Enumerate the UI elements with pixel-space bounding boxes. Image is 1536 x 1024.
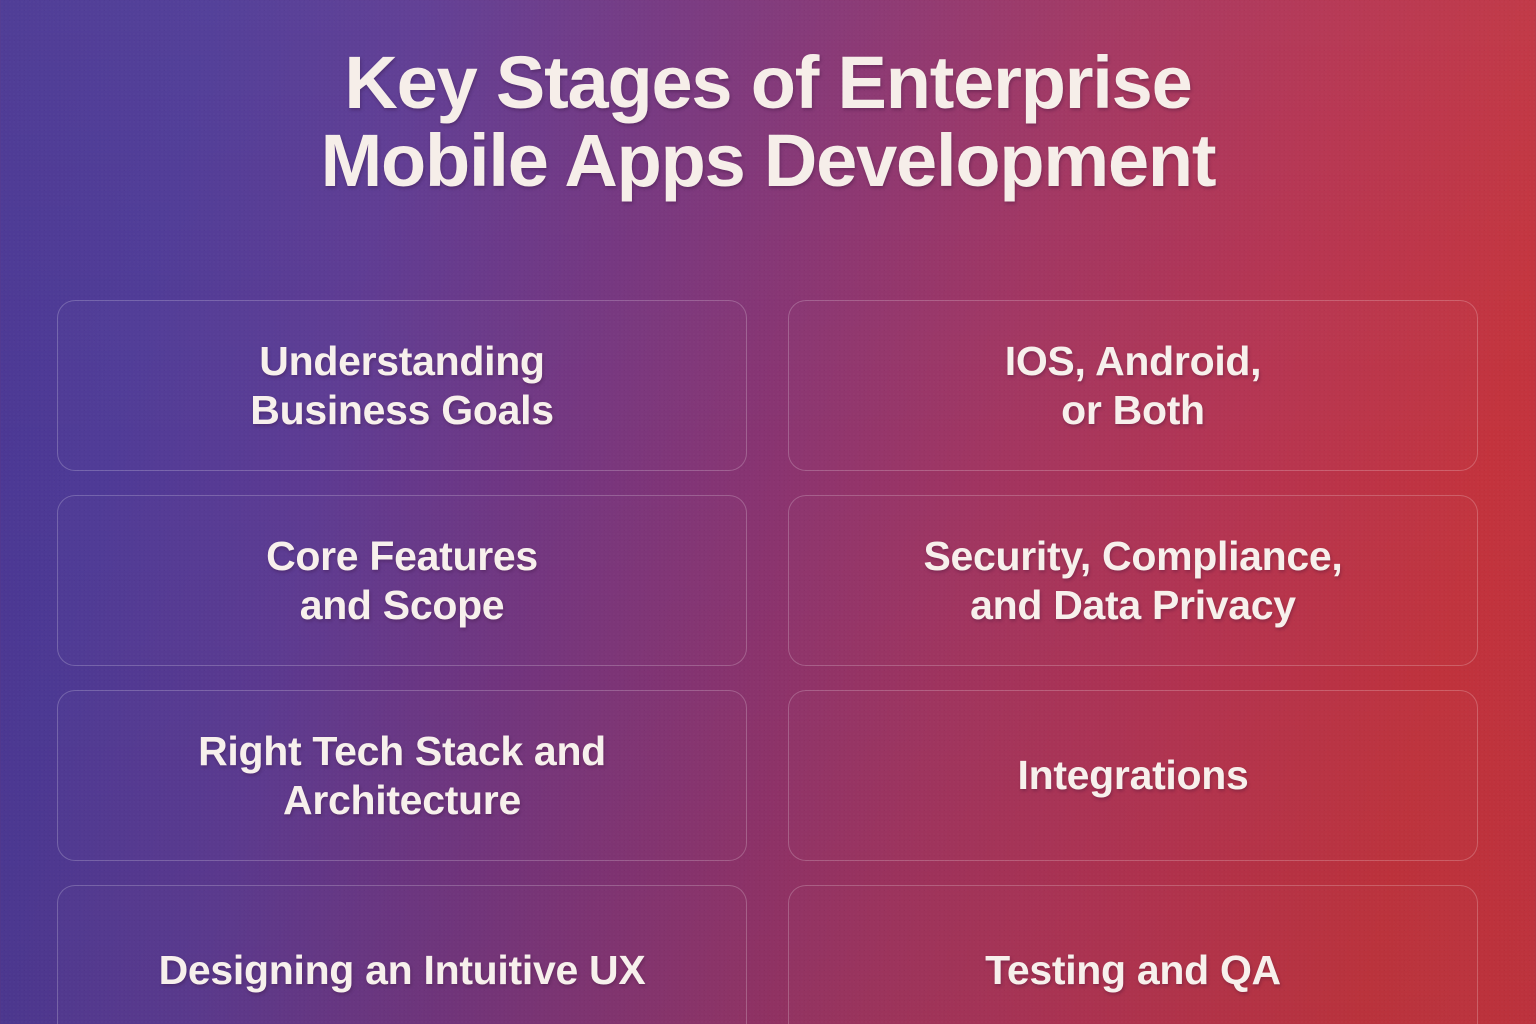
- stage-card-line-1: Core Features: [266, 532, 538, 580]
- stage-card-label: Testing and QA: [963, 946, 1303, 994]
- stage-card-label: Integrations: [995, 751, 1270, 799]
- stage-card-right-tech-stack-and-architecture[interactable]: Right Tech Stack and Architecture: [57, 690, 747, 861]
- stage-card-label: Designing an Intuitive UX: [137, 946, 668, 994]
- stage-card-line-2: Business Goals: [250, 386, 553, 434]
- stage-card-line-2: Architecture: [198, 776, 606, 824]
- stage-card-line-1: Right Tech Stack and: [198, 727, 606, 775]
- stage-card-line-2: and Scope: [266, 581, 538, 629]
- stage-card-label: Core Features and Scope: [244, 532, 560, 629]
- stage-card-line-2: or Both: [1005, 386, 1262, 434]
- stages-column-right: IOS, Android, or Both Security, Complian…: [788, 300, 1478, 1024]
- stage-card-label: Right Tech Stack and Architecture: [176, 727, 628, 824]
- stage-card-line-1: Designing an Intuitive UX: [159, 946, 646, 994]
- stage-card-understanding-business-goals[interactable]: Understanding Business Goals: [57, 300, 747, 471]
- stage-card-line-1: Understanding: [250, 337, 553, 385]
- stage-card-line-1: Testing and QA: [985, 946, 1281, 994]
- stage-card-line-1: Integrations: [1017, 751, 1248, 799]
- stage-card-integrations[interactable]: Integrations: [788, 690, 1478, 861]
- page-title-line-2: Mobile Apps Development: [90, 122, 1446, 200]
- stage-card-line-1: Security, Compliance,: [923, 532, 1342, 580]
- stage-card-testing-and-qa[interactable]: Testing and QA: [788, 885, 1478, 1024]
- infographic-canvas: Key Stages of Enterprise Mobile Apps Dev…: [0, 0, 1536, 1024]
- stages-column-left: Understanding Business Goals Core Featur…: [57, 300, 747, 1024]
- stage-card-line-2: and Data Privacy: [923, 581, 1342, 629]
- page-title-line-1: Key Stages of Enterprise: [90, 44, 1446, 122]
- stage-card-label: Security, Compliance, and Data Privacy: [901, 532, 1364, 629]
- stage-card-designing-an-intuitive-ux[interactable]: Designing an Intuitive UX: [57, 885, 747, 1024]
- stage-card-line-1: IOS, Android,: [1005, 337, 1262, 385]
- stage-card-core-features-and-scope[interactable]: Core Features and Scope: [57, 495, 747, 666]
- stage-card-label: Understanding Business Goals: [228, 337, 575, 434]
- stage-card-label: IOS, Android, or Both: [983, 337, 1284, 434]
- stage-card-security-compliance-and-data-privacy[interactable]: Security, Compliance, and Data Privacy: [788, 495, 1478, 666]
- page-title: Key Stages of Enterprise Mobile Apps Dev…: [0, 44, 1536, 201]
- stage-card-ios-android-or-both[interactable]: IOS, Android, or Both: [788, 300, 1478, 471]
